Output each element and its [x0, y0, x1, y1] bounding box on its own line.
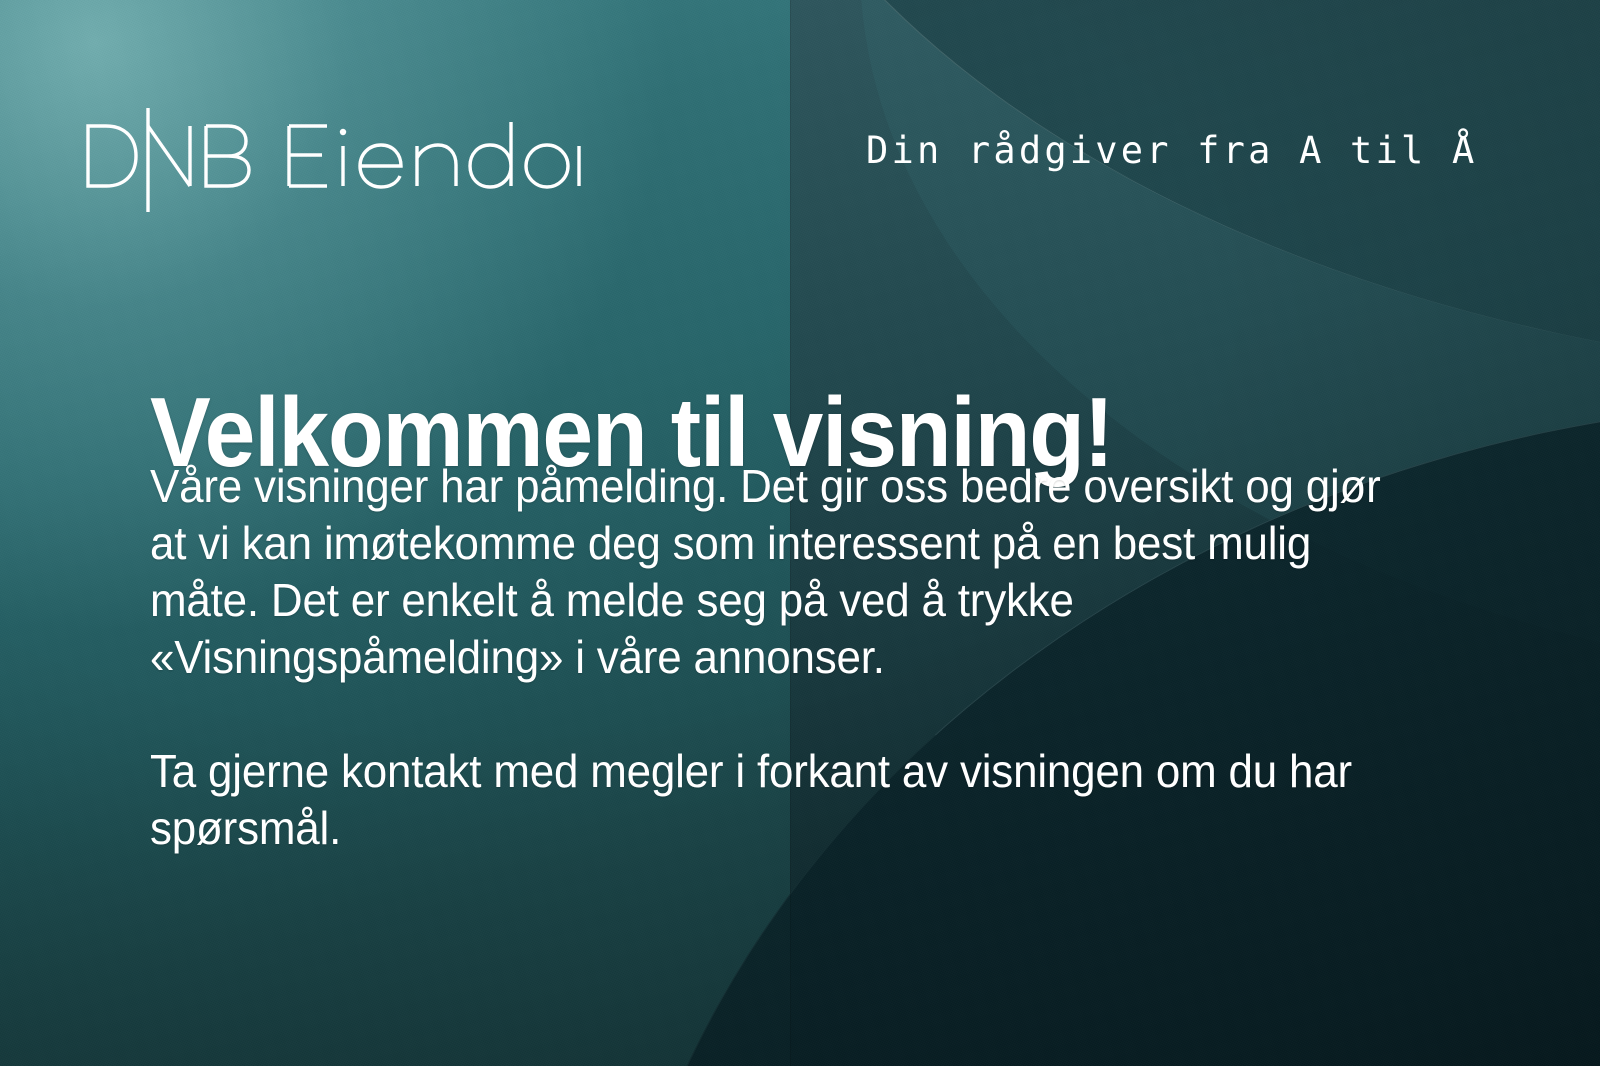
logo-wordmark — [84, 108, 584, 212]
body-paragraph-1: Våre visninger har påmelding. Det gir os… — [150, 458, 1392, 686]
body-paragraph-2: Ta gjerne kontakt med megler i forkant a… — [150, 743, 1392, 857]
brand-tagline: Din rådgiver fra A til Å — [866, 127, 1477, 175]
logo-i-dot — [340, 129, 346, 135]
poster-content: Din rådgiver fra A til Å Velkommen til v… — [0, 0, 1600, 1066]
dnb-eiendom-logo-svg — [84, 108, 584, 212]
body-copy: Våre visninger har påmelding. Det gir os… — [150, 458, 1450, 857]
dnb-eiendom-logo — [84, 108, 584, 188]
poster-canvas: Din rådgiver fra A til Å Velkommen til v… — [0, 0, 1600, 1066]
